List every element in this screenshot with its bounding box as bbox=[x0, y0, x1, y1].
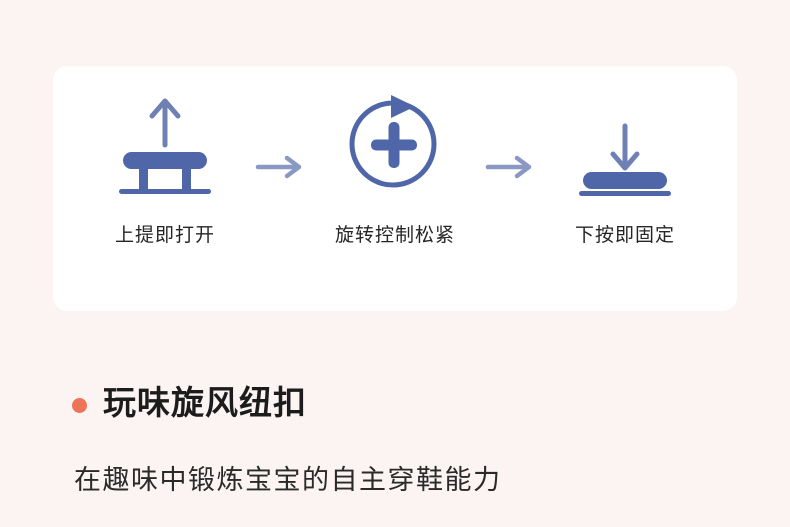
step-connector-1 bbox=[249, 66, 311, 180]
step-label-rotate-tighten: 旋转控制松紧 bbox=[335, 220, 455, 247]
feature-subheadline: 在趣味中锻炼宝宝的自主穿鞋能力 bbox=[74, 458, 692, 497]
feature-headline: 玩味旋风纽扣 bbox=[103, 384, 307, 422]
press-lock-icon bbox=[569, 88, 681, 198]
bullet-dot-icon bbox=[72, 398, 87, 413]
step-label-lift-open: 上提即打开 bbox=[115, 220, 215, 247]
feature-headline-block: 玩味旋风纽扣 在趣味中锻炼宝宝的自主穿鞋能力 bbox=[72, 362, 692, 497]
headline-row: 玩味旋风纽扣 bbox=[72, 362, 692, 444]
rotate-tighten-icon bbox=[343, 88, 447, 198]
arrow-right-icon bbox=[255, 154, 305, 180]
step-connector-2 bbox=[479, 66, 541, 180]
step-label-press-lock: 下按即固定 bbox=[575, 220, 675, 247]
steps-row: 上提即打开 bbox=[53, 66, 737, 311]
steps-card: 上提即打开 bbox=[53, 66, 737, 311]
step-lift-open: 上提即打开 bbox=[81, 66, 249, 247]
step-press-lock: 下按即固定 bbox=[541, 66, 709, 247]
lift-open-icon bbox=[109, 88, 221, 198]
arrow-right-icon bbox=[485, 154, 535, 180]
step-rotate-tighten: 旋转控制松紧 bbox=[311, 66, 479, 247]
